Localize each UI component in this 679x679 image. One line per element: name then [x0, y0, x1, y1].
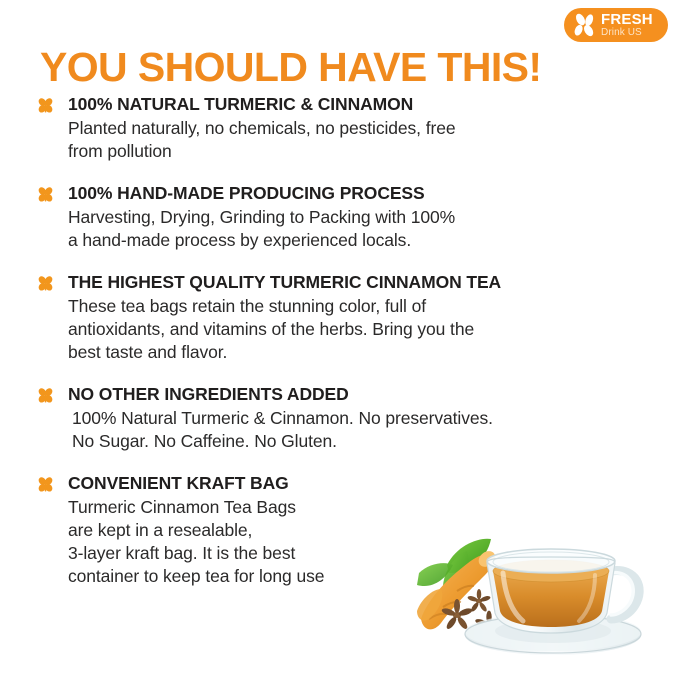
clover-flower-icon: [36, 96, 55, 115]
flower-petals-icon: [569, 10, 599, 40]
feature-title: 100% NATURAL TURMERIC & CINNAMON: [68, 94, 646, 115]
brand-text-block: FRESH Drink US: [601, 12, 653, 39]
turmeric-tea-cup-photo: [383, 515, 663, 665]
feature-description-line: 3-layer kraft bag. It is the best: [68, 542, 428, 565]
feature-description-line: No Sugar. No Caffeine. No Gluten.: [72, 430, 646, 453]
feature-description-line: 100% Natural Turmeric & Cinnamon. No pre…: [72, 407, 646, 430]
feature-title: CONVENIENT KRAFT BAG: [68, 473, 646, 494]
clover-flower-icon: [36, 386, 55, 405]
feature-description-line: from pollution: [68, 140, 646, 163]
tea-cup: [487, 549, 615, 633]
feature-item-handmade: 100% HAND-MADE PRODUCING PROCESS Harvest…: [36, 183, 646, 252]
feature-title: NO OTHER INGREDIENTS ADDED: [68, 384, 646, 405]
feature-item-no-additives: NO OTHER INGREDIENTS ADDED 100% Natural …: [36, 384, 646, 453]
brand-name: FRESH: [601, 12, 653, 27]
clover-flower-icon: [36, 185, 55, 204]
page-title: YOU SHOULD HAVE THIS!: [40, 44, 541, 90]
brand-logo: FRESH Drink US: [564, 8, 668, 42]
feature-title: THE HIGHEST QUALITY TURMERIC CINNAMON TE…: [68, 272, 646, 293]
feature-title: 100% HAND-MADE PRODUCING PROCESS: [68, 183, 646, 204]
feature-description: Harvesting, Drying, Grinding to Packing …: [68, 206, 646, 252]
feature-description: These tea bags retain the stunning color…: [68, 295, 646, 364]
brand-tagline: Drink US: [601, 27, 653, 39]
feature-item-quality: THE HIGHEST QUALITY TURMERIC CINNAMON TE…: [36, 272, 646, 364]
cup-handle: [611, 571, 639, 619]
feature-description-line: a hand-made process by experienced local…: [68, 229, 646, 252]
feature-description-line: are kept in a resealable,: [68, 519, 428, 542]
feature-description-line: best taste and flavor.: [68, 341, 646, 364]
feature-description-line: Planted naturally, no chemicals, no pest…: [68, 117, 646, 140]
feature-description-line: Harvesting, Drying, Grinding to Packing …: [68, 206, 646, 229]
clover-flower-icon: [36, 274, 55, 293]
feature-description: 100% Natural Turmeric & Cinnamon. No pre…: [68, 407, 646, 453]
feature-item-natural: 100% NATURAL TURMERIC & CINNAMON Planted…: [36, 94, 646, 163]
feature-description-line: antioxidants, and vitamins of the herbs.…: [68, 318, 646, 341]
clover-flower-icon: [36, 475, 55, 494]
feature-description: Planted naturally, no chemicals, no pest…: [68, 117, 646, 163]
feature-description-line: Turmeric Cinnamon Tea Bags: [68, 496, 428, 519]
feature-description-line: container to keep tea for long use: [68, 565, 428, 588]
feature-description-line: These tea bags retain the stunning color…: [68, 295, 646, 318]
